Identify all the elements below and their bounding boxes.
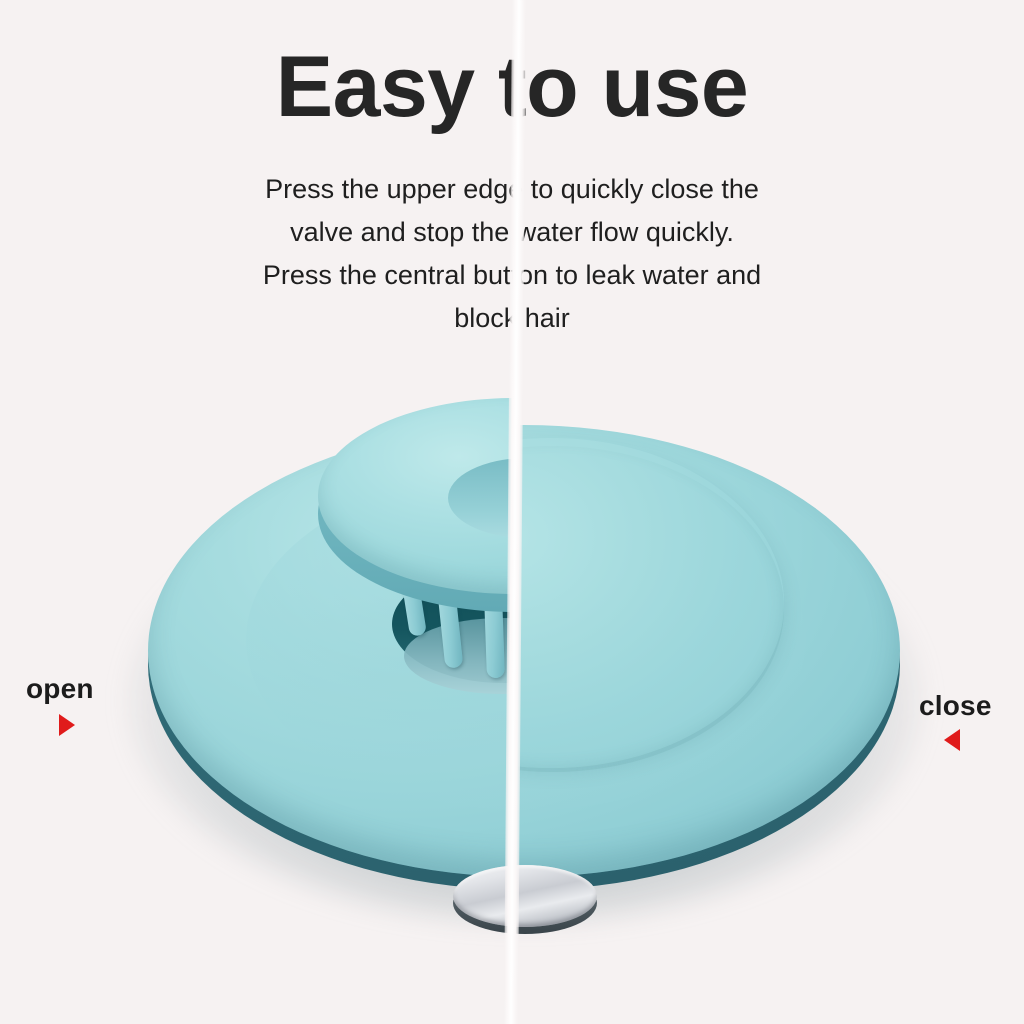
- seated-cap-seam: [518, 446, 784, 772]
- triangle-right-icon: [59, 714, 75, 736]
- center-button-face[interactable]: [453, 865, 597, 927]
- infographic-page: Easy to use Press the upper edge to quic…: [0, 0, 1024, 1024]
- open-label: open: [26, 673, 94, 705]
- close-state-view: [518, 360, 1024, 960]
- close-state-layers: [518, 360, 1024, 960]
- close-label: close: [919, 690, 992, 722]
- open-state-view: [0, 360, 518, 960]
- triangle-left-icon: [944, 729, 960, 751]
